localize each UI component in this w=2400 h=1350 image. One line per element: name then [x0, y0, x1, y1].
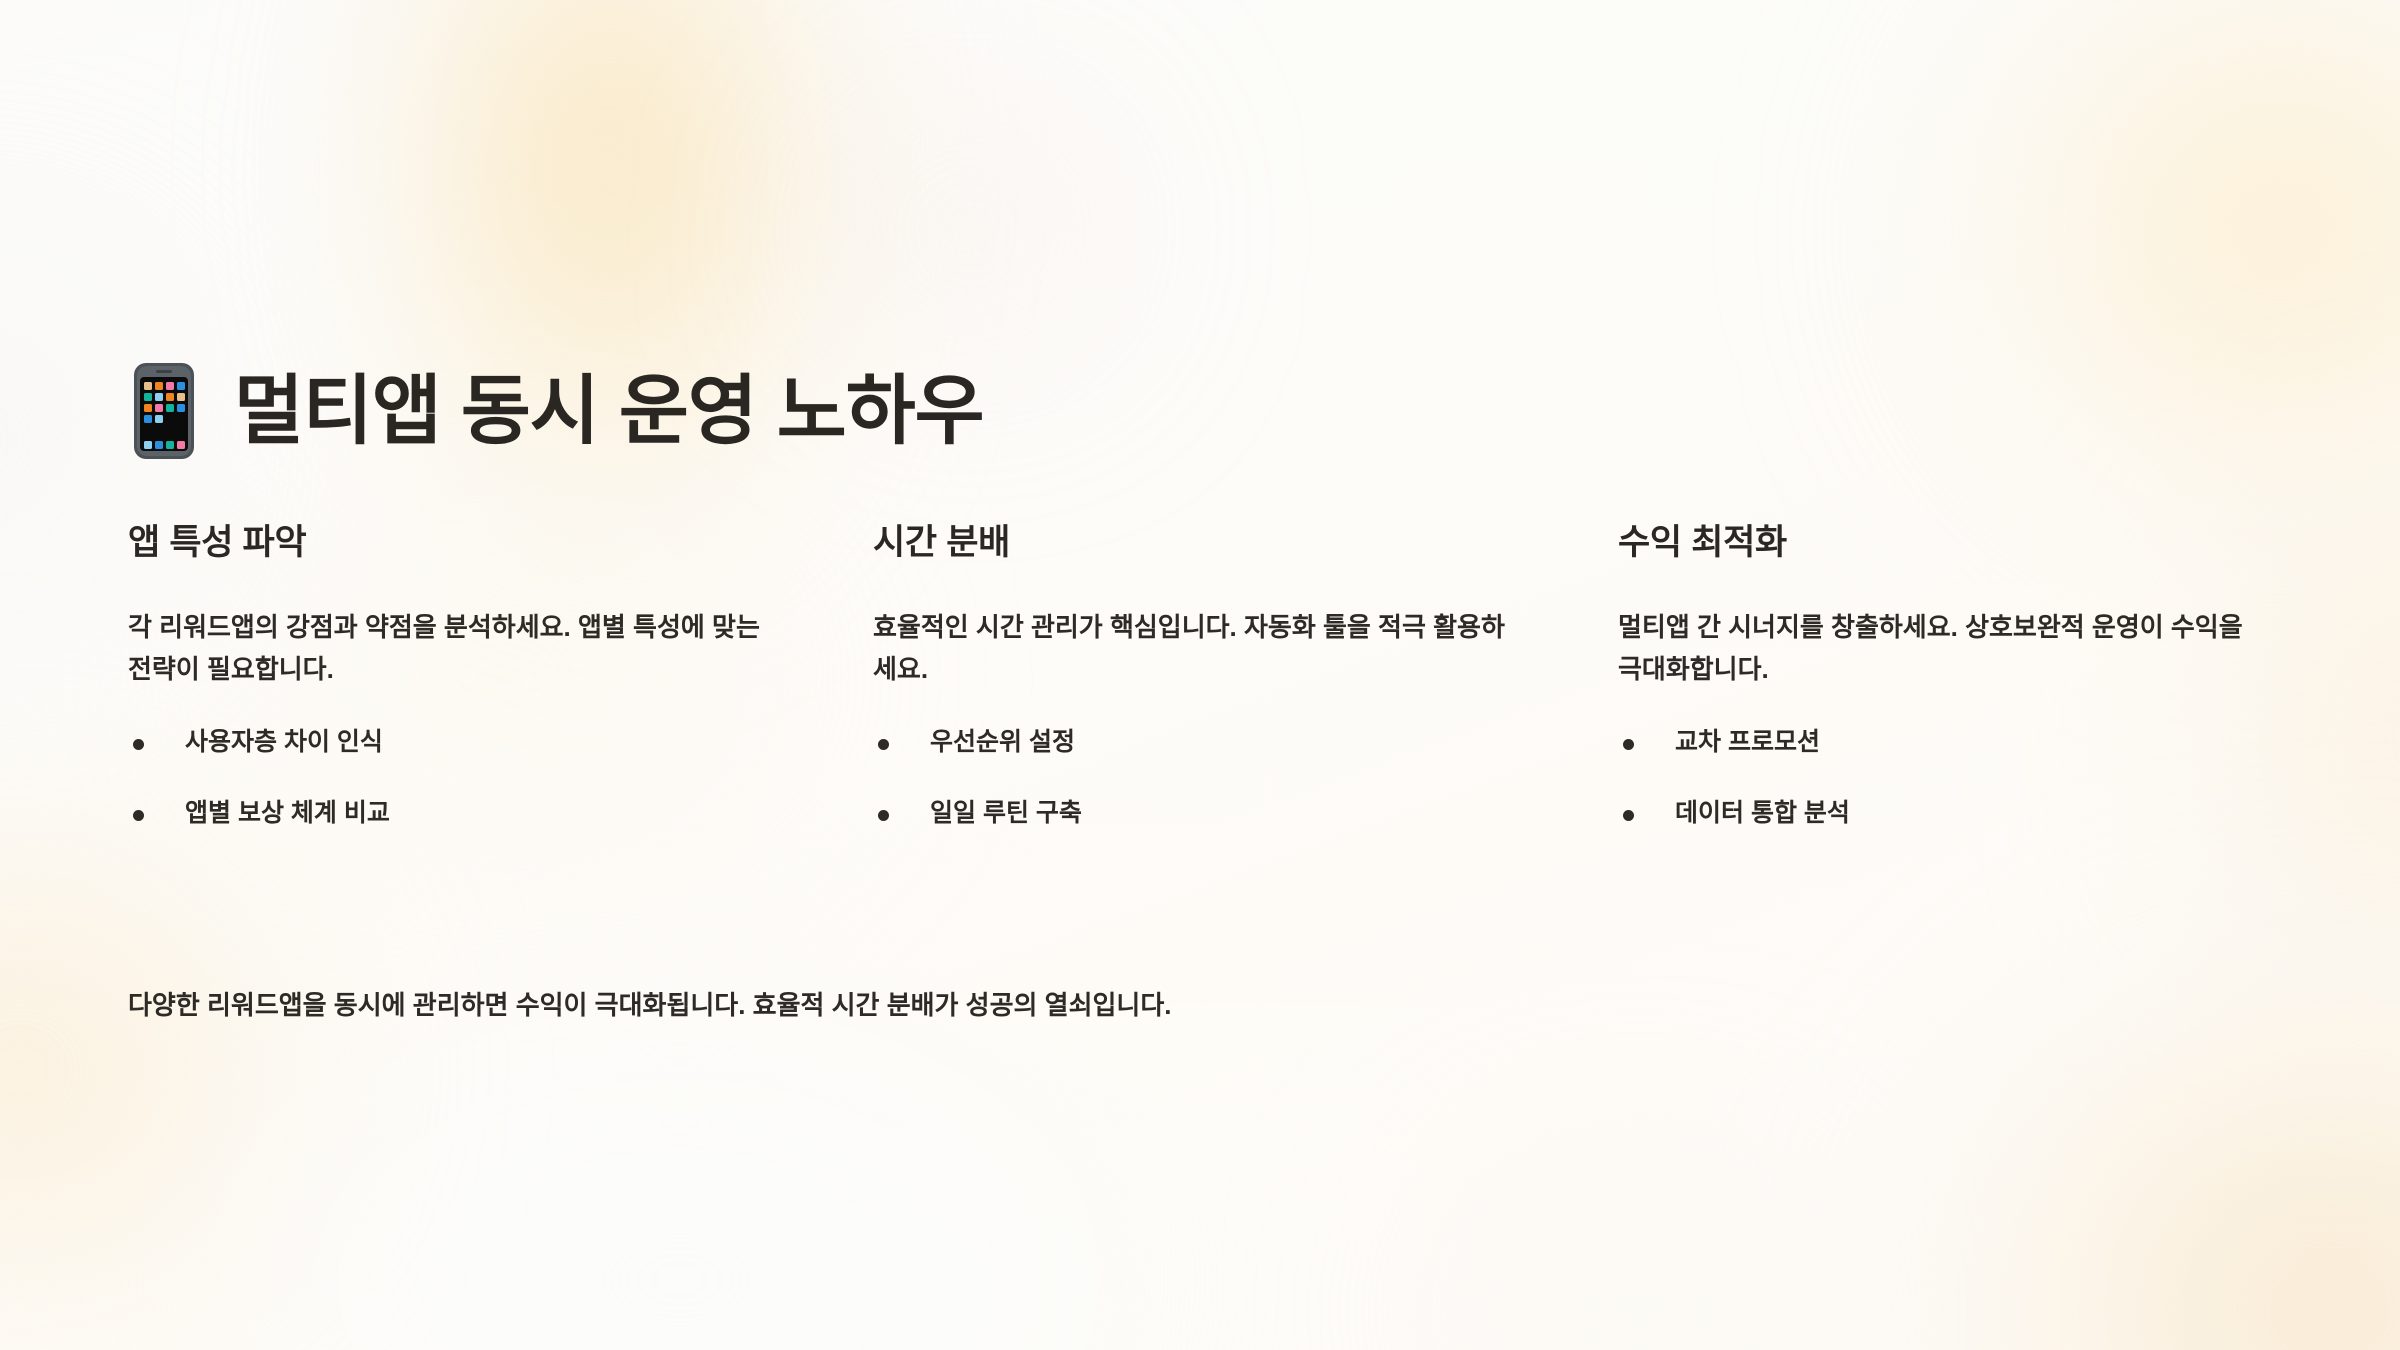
- list-item: 우선순위 설정: [873, 726, 1533, 759]
- column-heading: 시간 분배: [873, 522, 1533, 564]
- bullet-dot-icon: [1623, 739, 1634, 750]
- bullet-label: 앱별 보상 체계 비교: [185, 797, 390, 830]
- page-title: 멀티앱 동시 운영 노하우: [234, 369, 984, 454]
- column-body-text: 멀티앱 간 시너지를 창출하세요. 상호보완적 운영이 수익을 극대화합니다.: [1618, 606, 2268, 690]
- column-heading: 수익 최적화: [1618, 522, 2278, 564]
- bullet-label: 일일 루틴 구축: [930, 797, 1082, 830]
- column-app-characteristics: 앱 특성 파악 각 리워드앱의 강점과 약점을 분석하세요. 앱별 특성에 맞는…: [128, 522, 788, 829]
- bullet-dot-icon: [133, 810, 144, 821]
- column-bullet-list: 우선순위 설정 일일 루틴 구축: [873, 726, 1533, 829]
- bullet-label: 교차 프로모션: [1675, 726, 1820, 759]
- three-column-layout: 앱 특성 파악 각 리워드앱의 강점과 약점을 분석하세요. 앱별 특성에 맞는…: [128, 522, 2288, 829]
- bullet-label: 우선순위 설정: [930, 726, 1075, 759]
- column-body-text: 각 리워드앱의 강점과 약점을 분석하세요. 앱별 특성에 맞는 전략이 필요합…: [128, 606, 778, 690]
- column-heading: 앱 특성 파악: [128, 522, 788, 564]
- column-bullet-list: 사용자층 차이 인식 앱별 보상 체계 비교: [128, 726, 788, 829]
- list-item: 앱별 보상 체계 비교: [128, 797, 788, 830]
- slide-canvas: 멀티앱 동시 운영 노하우 앱 특성 파악 각 리워드앱의 강점과 약점을 분석…: [0, 0, 2400, 1350]
- list-item: 데이터 통합 분석: [1618, 797, 2278, 830]
- column-bullet-list: 교차 프로모션 데이터 통합 분석: [1618, 726, 2278, 829]
- column-revenue-optimization: 수익 최적화 멀티앱 간 시너지를 창출하세요. 상호보완적 운영이 수익을 극…: [1618, 522, 2278, 829]
- column-body-text: 효율적인 시간 관리가 핵심입니다. 자동화 툴을 적극 활용하세요.: [873, 606, 1523, 690]
- mobile-phone-emoji: [128, 361, 204, 461]
- bullet-label: 데이터 통합 분석: [1675, 797, 1850, 830]
- list-item: 일일 루틴 구축: [873, 797, 1533, 830]
- bullet-dot-icon: [878, 739, 889, 750]
- bullet-label: 사용자층 차이 인식: [185, 726, 383, 759]
- list-item: 사용자층 차이 인식: [128, 726, 788, 759]
- slide-title-row: 멀티앱 동시 운영 노하우: [128, 318, 984, 505]
- bullet-dot-icon: [878, 810, 889, 821]
- bullet-dot-icon: [133, 739, 144, 750]
- list-item: 교차 프로모션: [1618, 726, 2278, 759]
- bullet-dot-icon: [1623, 810, 1634, 821]
- footer-summary-note: 다양한 리워드앱을 동시에 관리하면 수익이 극대화됩니다. 효율적 시간 분배…: [128, 986, 1172, 1025]
- column-time-allocation: 시간 분배 효율적인 시간 관리가 핵심입니다. 자동화 툴을 적극 활용하세요…: [873, 522, 1533, 829]
